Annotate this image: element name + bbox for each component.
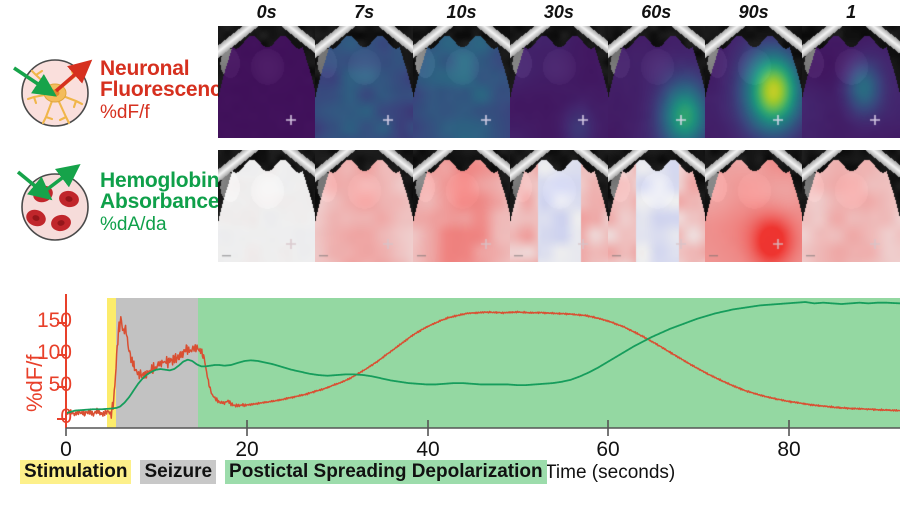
montage-time-label-6: 1	[846, 2, 856, 23]
montage-panel-hb-6	[802, 150, 900, 262]
row-title-line2: Fluorescence	[100, 79, 233, 100]
montage-row-hemoglobin	[218, 150, 900, 262]
montage-panel-hb-1	[315, 150, 413, 262]
row-label-hemoglobin-absorbance: Hemoglobin Absorbance %dA/da	[12, 152, 217, 252]
phase-legend: Stimulation Seizure Postictal Spreading …	[20, 460, 547, 484]
montage-panel-hb-3	[510, 150, 608, 262]
montage-panel-gcamp-6	[802, 26, 900, 138]
montage-time-label-0: 0s	[257, 2, 277, 23]
series-neuronal-fluorescence	[66, 311, 900, 418]
x-tick-40: 40	[416, 438, 439, 462]
montage-panel-gcamp-1	[315, 26, 413, 138]
row-title-line1: Hemoglobin	[100, 170, 219, 191]
montage-panel-gcamp-2	[413, 26, 511, 138]
montage-panel-hb-5	[705, 150, 803, 262]
row-title-line2: Absorbance	[100, 191, 219, 212]
montage-panel-gcamp-3	[510, 26, 608, 138]
neuron-cell-icon	[12, 49, 94, 131]
montage-panel-gcamp-5	[705, 26, 803, 138]
x-tick-60: 60	[596, 438, 619, 462]
row-units: %dF/f	[100, 103, 233, 122]
row-label-neuronal-fluorescence: Neuronal Fluorescence %dF/f	[12, 40, 212, 140]
montage-time-label-2: 10s	[446, 2, 476, 23]
montage-time-label-4: 60s	[641, 2, 671, 23]
x-tick-20: 20	[235, 438, 258, 462]
legend-chip-stimulation: Stimulation	[20, 460, 131, 484]
row-label-text: Hemoglobin Absorbance %dA/da	[100, 170, 219, 234]
x-tick-80: 80	[777, 438, 800, 462]
figure-root: Neuronal Fluorescence %dF/f	[0, 0, 900, 506]
row-units: %dA/da	[100, 215, 219, 234]
x-axis-label: Time (seconds)	[545, 462, 675, 484]
legend-chip-seizure: Seizure	[140, 460, 216, 484]
montage-panel-gcamp-0	[218, 26, 316, 138]
timeseries-chart: %dF/f 150 100 50 0 0 20 40 60 80 Time	[0, 290, 900, 506]
red-blood-cells-icon	[12, 161, 94, 243]
montage-panel-gcamp-4	[608, 26, 706, 138]
series-hemoglobin-absorbance	[66, 302, 900, 413]
montage-time-label-5: 90s	[739, 2, 769, 23]
plot-area	[66, 298, 900, 428]
row-title-line1: Neuronal	[100, 58, 233, 79]
montage-time-header: 0s7s10s30s60s90s1	[0, 2, 900, 28]
montage-time-label-3: 30s	[544, 2, 574, 23]
montage-panel-hb-0	[218, 150, 316, 262]
montage-time-label-1: 7s	[354, 2, 374, 23]
legend-chip-postictal-spreading-depolarization: Postictal Spreading Depolarization	[225, 460, 547, 484]
row-label-text: Neuronal Fluorescence %dF/f	[100, 58, 233, 122]
x-tick-0: 0	[60, 438, 72, 462]
montage-panel-hb-4	[608, 150, 706, 262]
montage-row-fluorescence	[218, 26, 900, 138]
chart-traces	[66, 298, 900, 428]
montage-panel-hb-2	[413, 150, 511, 262]
